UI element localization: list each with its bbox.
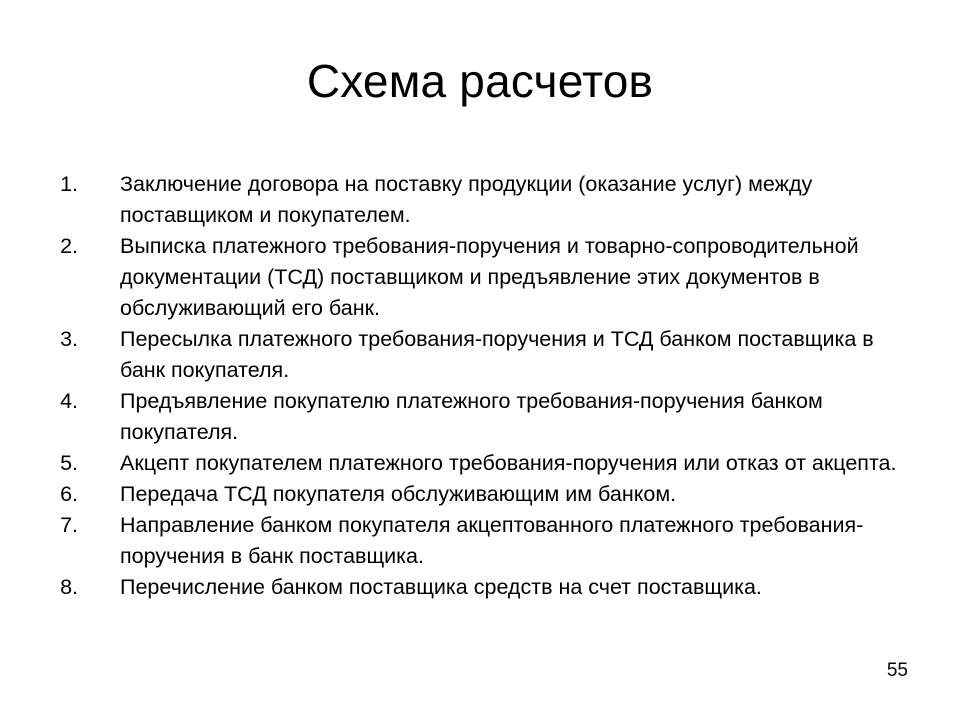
list-item-text: Направление банком покупателя акцептован… xyxy=(120,510,920,572)
list-item-number: 5. xyxy=(48,448,78,479)
slide: Схема расчетов 1. Заключение договора на… xyxy=(0,0,960,720)
list-item-text: Выписка платежного требования-поручения … xyxy=(120,231,920,324)
list-item-number: 6. xyxy=(48,479,78,510)
list-item-text: Заключение договора на поставку продукци… xyxy=(120,169,920,231)
list-item-number: 7. xyxy=(48,510,78,541)
list-item: 2. Выписка платежного требования-поручен… xyxy=(48,231,920,324)
list-item-text: Акцепт покупателем платежного требования… xyxy=(120,448,920,479)
list-item-number: 3. xyxy=(48,324,78,355)
list-item: 3. Пересылка платежного требования-поруч… xyxy=(48,324,920,386)
numbered-steps-list: 1. Заключение договора на поставку проду… xyxy=(48,169,920,603)
list-item-number: 4. xyxy=(48,386,78,417)
page-number: 55 xyxy=(887,660,908,682)
list-item-number: 8. xyxy=(48,572,78,603)
list-item-text: Предъявление покупателю платежного требо… xyxy=(120,386,920,448)
list-item-number: 1. xyxy=(48,169,78,200)
list-item-number: 2. xyxy=(48,231,78,262)
list-item: 7. Направление банком покупателя акцепто… xyxy=(48,510,920,572)
list-item: 5. Акцепт покупателем платежного требова… xyxy=(48,448,920,479)
list-item-text: Перечисление банком поставщика средств н… xyxy=(120,572,920,603)
list-item-text: Передача ТСД покупателя обслуживающим им… xyxy=(120,479,920,510)
list-item: 6. Передача ТСД покупателя обслуживающим… xyxy=(48,479,920,510)
list-item: 8. Перечисление банком поставщика средст… xyxy=(48,572,920,603)
page-title: Схема расчетов xyxy=(0,53,960,109)
list-item: 4. Предъявление покупателю платежного тр… xyxy=(48,386,920,448)
list-item: 1. Заключение договора на поставку проду… xyxy=(48,169,920,231)
list-item-text: Пересылка платежного требования-поручени… xyxy=(120,324,920,386)
